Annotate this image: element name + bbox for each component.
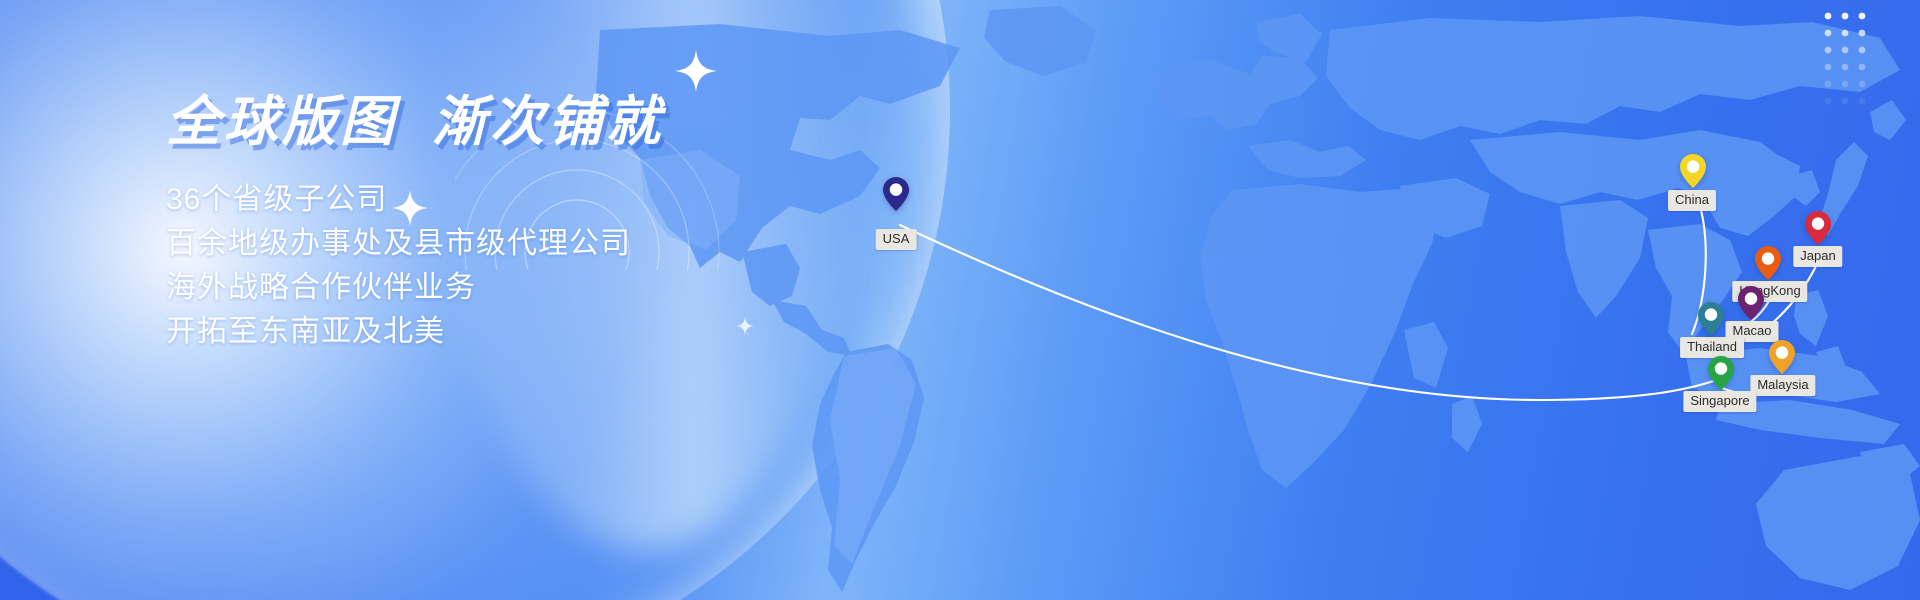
map-pin-macao[interactable] bbox=[1738, 286, 1764, 320]
headline-part-1: 全球版图 bbox=[166, 92, 398, 152]
dot-grid-decoration bbox=[1822, 10, 1878, 119]
global-map-banner: 全球版图渐次铺就 36个省级子公司 百余地级办事处及县市级代理公司 海外战略合作… bbox=[0, 0, 1920, 600]
map-pin-china[interactable] bbox=[1680, 154, 1706, 188]
banner-bullet-list: 36个省级子公司 百余地级办事处及县市级代理公司 海外战略合作伙伴业务 开拓至东… bbox=[166, 178, 1066, 354]
map-pin-malaysia[interactable] bbox=[1769, 340, 1795, 374]
bullet-item-4: 开拓至东南亚及北美 bbox=[166, 310, 1066, 354]
map-pin-label-singapore: Singapore bbox=[1683, 391, 1756, 412]
map-pin-label-malaysia: Malaysia bbox=[1750, 375, 1815, 396]
page-title: 全球版图渐次铺就 bbox=[166, 92, 1066, 152]
map-pin-hongkong[interactable] bbox=[1755, 246, 1781, 280]
map-pin-thailand[interactable] bbox=[1698, 302, 1724, 336]
map-pin-label-japan: Japan bbox=[1793, 246, 1842, 267]
map-pin-singapore[interactable] bbox=[1708, 356, 1734, 390]
map-pin-label-thailand: Thailand bbox=[1680, 337, 1744, 358]
map-pin-japan[interactable] bbox=[1805, 211, 1831, 245]
bullet-item-2: 百余地级办事处及县市级代理公司 bbox=[166, 222, 1066, 266]
bullet-item-1: 36个省级子公司 bbox=[166, 178, 1066, 222]
sparkle-top-icon bbox=[675, 50, 717, 97]
bullet-item-3: 海外战略合作伙伴业务 bbox=[166, 266, 1066, 310]
map-pin-label-usa: USA bbox=[876, 229, 917, 250]
map-pin-usa[interactable] bbox=[883, 177, 909, 211]
banner-copy: 全球版图渐次铺就 36个省级子公司 百余地级办事处及县市级代理公司 海外战略合作… bbox=[166, 92, 1066, 354]
map-pin-label-china: China bbox=[1668, 190, 1716, 211]
headline-part-2: 渐次铺就 bbox=[432, 92, 664, 152]
